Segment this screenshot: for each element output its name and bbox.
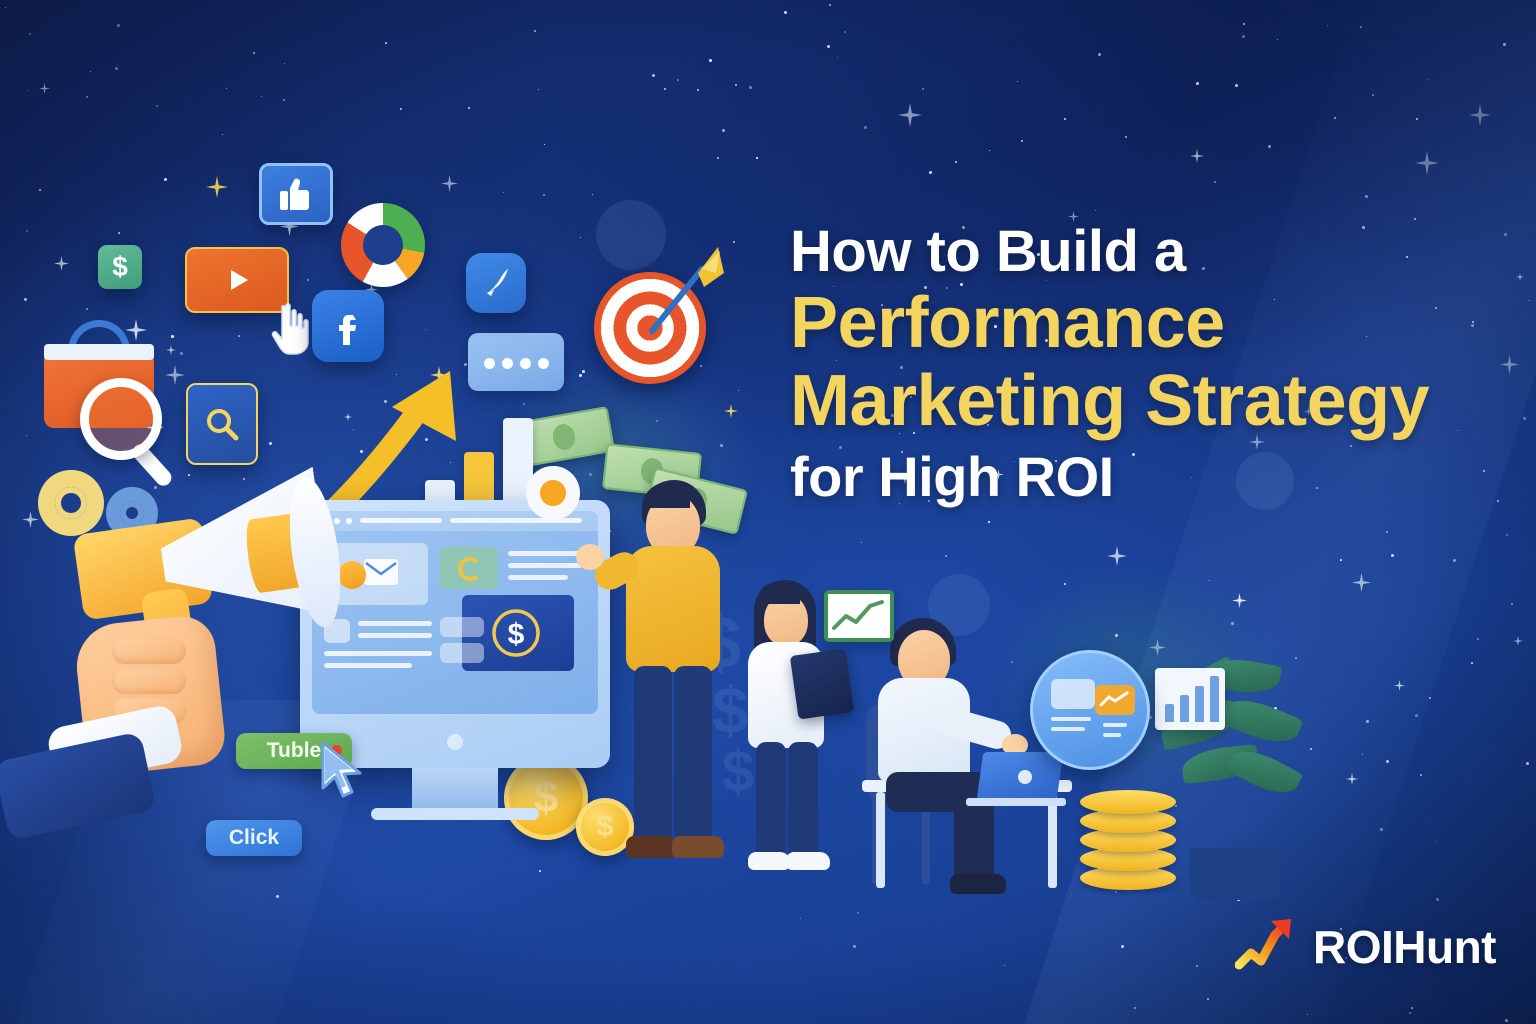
star-dot <box>27 90 28 91</box>
star-sparkle <box>898 103 922 127</box>
star-dot <box>945 555 947 557</box>
mini-bar-2 <box>1180 695 1189 722</box>
star-dot <box>929 171 932 174</box>
star-dot <box>1427 79 1428 80</box>
hair-front <box>642 482 690 508</box>
shoe-right <box>672 836 724 858</box>
chat-bubble-icon <box>468 333 564 391</box>
star-dot <box>1420 774 1422 776</box>
star-dot <box>1436 898 1439 901</box>
magnifier-ring <box>80 378 162 460</box>
star-dot <box>1503 43 1506 46</box>
star-dot <box>861 542 862 543</box>
logo[interactable]: ROIHunt <box>1235 917 1496 976</box>
star-dot <box>1523 417 1526 420</box>
magcircle-trend-icon <box>1099 691 1131 709</box>
star-dot <box>717 157 719 159</box>
star-dot <box>652 74 655 77</box>
bubble-dot-2 <box>502 358 513 369</box>
shoe-right <box>786 852 830 870</box>
star-dot <box>180 352 183 355</box>
star-dot <box>837 57 838 58</box>
leg-right <box>788 742 818 858</box>
topbar-line-1 <box>450 518 582 523</box>
star-sparkle <box>1394 680 1405 691</box>
star-sparkle <box>1516 273 1524 281</box>
star-dot <box>86 308 88 310</box>
chip-click[interactable]: Click <box>206 820 302 856</box>
headline-line-2: Performance <box>790 287 1510 360</box>
bubble-dot-3 <box>520 358 531 369</box>
shoe <box>950 874 1006 894</box>
star-dot <box>1453 559 1456 562</box>
star-dot <box>90 71 91 72</box>
arrow-icon <box>640 243 730 343</box>
thumbs-up-icon[interactable] <box>259 163 333 225</box>
hair-front <box>756 582 800 604</box>
dash-line-5 <box>358 633 432 638</box>
star-sparkle <box>39 83 50 94</box>
star-dot <box>1366 720 1369 723</box>
stack-coin-5 <box>1080 790 1176 814</box>
mini-bar-1 <box>1165 704 1174 722</box>
star-sparkle <box>166 345 176 355</box>
star-dot <box>222 134 223 135</box>
star-dot <box>592 194 593 195</box>
megaphone-rim <box>282 474 349 631</box>
star-dot <box>1362 754 1363 755</box>
star-dot <box>538 89 539 90</box>
search-icon[interactable] <box>186 383 258 465</box>
monitor-stand <box>412 768 498 812</box>
star-dot <box>1436 841 1437 842</box>
star-dot <box>989 150 990 151</box>
star-dot <box>1511 603 1513 605</box>
star-dot <box>171 335 174 338</box>
star-dot <box>1197 1006 1198 1007</box>
star-dot <box>1307 1014 1308 1015</box>
star-sparkle <box>1352 573 1371 592</box>
star-dot <box>26 435 27 436</box>
star-dot <box>1064 118 1066 120</box>
star-dot <box>1235 84 1238 87</box>
star-dot <box>1471 662 1473 664</box>
dollar-badge-icon[interactable]: $ <box>98 245 142 289</box>
tablet[interactable] <box>790 648 854 719</box>
star-dot <box>284 63 285 64</box>
star-dot <box>24 298 27 301</box>
chip-tuble-label: Tuble <box>267 739 321 763</box>
star-dot <box>118 232 120 234</box>
star-dot <box>1277 39 1278 40</box>
star-dot <box>1327 25 1328 26</box>
bubble-dot-4 <box>538 358 549 369</box>
star-dot <box>1386 760 1389 763</box>
headline: How to Build a Performance Marketing Str… <box>790 222 1510 505</box>
star-dot <box>1415 714 1418 717</box>
bubble-dot-1 <box>484 358 495 369</box>
dash-line-3 <box>508 575 568 580</box>
star-dot <box>677 79 679 81</box>
star-dot <box>1505 1019 1508 1022</box>
magcircle-line-2 <box>1051 727 1085 731</box>
star-sparkle <box>1190 149 1204 163</box>
suit-sleeve <box>0 731 157 840</box>
shoe-left <box>748 852 790 870</box>
leg-left <box>634 666 672 842</box>
star-dot <box>1098 53 1101 56</box>
star-dot <box>86 96 88 98</box>
headline-line-3: Marketing Strategy <box>790 365 1510 438</box>
mini-bar-4 <box>1210 676 1219 722</box>
star-dot <box>269 442 272 445</box>
star-dot <box>735 84 737 86</box>
star-dot <box>539 870 541 872</box>
star-dot <box>1380 828 1383 831</box>
star-dot <box>1414 218 1416 220</box>
star-dot <box>1021 140 1023 142</box>
star-dot <box>1340 559 1342 561</box>
donut-chart-icon <box>341 203 425 287</box>
facebook-icon[interactable] <box>312 290 384 362</box>
mini-bar-3 <box>1195 686 1204 722</box>
star-dot <box>253 52 255 54</box>
leg-left <box>756 742 786 858</box>
star-dot <box>853 945 856 948</box>
star-dot <box>1004 965 1005 966</box>
leg-right <box>674 666 712 842</box>
star-dot <box>1365 195 1368 198</box>
star-dot <box>156 105 158 107</box>
star-dot <box>425 329 426 330</box>
person-yellow-sweater <box>612 480 732 880</box>
star-dot <box>1429 697 1431 699</box>
star-dot <box>238 335 240 337</box>
star-dot <box>756 157 758 159</box>
dashboard-tile-1 <box>440 617 484 637</box>
line-chart-icon <box>824 590 894 642</box>
star-dot <box>922 88 924 90</box>
star-dot <box>543 194 545 196</box>
magnifier-icon <box>80 378 188 486</box>
star-dot <box>468 107 470 109</box>
star-dot <box>5 7 6 8</box>
cursor-arrow-icon <box>318 740 368 802</box>
star-dot <box>733 241 735 243</box>
star-dot <box>1506 534 1508 536</box>
star-dot <box>1121 945 1124 948</box>
star-dot <box>1409 1012 1411 1014</box>
star-dot <box>283 99 285 101</box>
star-dot <box>1416 118 1418 120</box>
star-dot <box>1334 117 1336 119</box>
cursor-hand-icon <box>270 300 316 358</box>
star-dot <box>1214 181 1216 183</box>
coin-small-symbol: $ <box>597 810 614 844</box>
dash-line-2 <box>508 563 582 568</box>
torso <box>626 546 720 672</box>
star-dot <box>385 42 387 44</box>
star-dot <box>1242 35 1245 38</box>
dash-line-1 <box>508 551 582 556</box>
star-sparkle-gold <box>206 176 228 198</box>
star-dot <box>1243 23 1245 25</box>
star-dot <box>1372 94 1374 96</box>
magcircle-card-1 <box>1051 679 1095 709</box>
star-dot <box>1196 965 1198 967</box>
star-dot <box>39 189 41 191</box>
magnified-dashboard-icon <box>1030 650 1150 770</box>
shoe-left <box>626 836 676 858</box>
star-dot <box>722 129 725 132</box>
bar-chart-panel <box>1155 668 1225 730</box>
megaphone-in-hand <box>60 470 360 700</box>
star-dot <box>1529 300 1530 301</box>
shin <box>954 800 994 882</box>
envelope-icon <box>364 559 398 585</box>
magcircle-line-1 <box>1051 717 1091 721</box>
star-dot <box>164 178 167 181</box>
star-dot <box>709 59 712 62</box>
star-dot <box>784 11 787 14</box>
laptop-base <box>966 798 1066 806</box>
star-dot <box>1207 998 1209 1000</box>
abstract-app-icon[interactable] <box>466 253 526 313</box>
dash-line-4 <box>358 621 432 626</box>
plant-pot <box>1190 848 1280 900</box>
logo-text: ROIHunt <box>1313 920 1496 974</box>
star-dot <box>664 88 666 90</box>
star-dot <box>115 67 118 70</box>
bag-top <box>44 344 154 360</box>
star-dot <box>1391 554 1394 557</box>
star-dot <box>827 45 830 48</box>
star-dot <box>400 108 402 110</box>
star-dot <box>1411 1007 1413 1009</box>
star-dot <box>261 96 262 97</box>
star-dot <box>1095 210 1096 211</box>
star-sparkle <box>1415 151 1439 175</box>
star-dot <box>697 89 699 91</box>
dollar-badge-label: $ <box>112 251 128 283</box>
hand-left <box>576 544 604 570</box>
star-dot <box>955 161 957 163</box>
coin-stack <box>1080 780 1180 890</box>
star-dot <box>29 33 31 35</box>
chip-click-label: Click <box>229 826 279 850</box>
star-dot <box>844 31 846 33</box>
headline-line-4: for High ROI <box>790 448 1510 505</box>
star-dot <box>1386 531 1388 533</box>
finger-2 <box>112 668 186 694</box>
star-dot <box>800 918 801 919</box>
star-dot <box>544 144 545 145</box>
star-dot <box>1017 81 1018 82</box>
star-dot <box>988 521 990 523</box>
star-dot <box>829 4 831 6</box>
laptop[interactable] <box>966 752 1062 804</box>
star-dot <box>864 126 867 129</box>
marketing-banner: $ $ $ $ <box>0 0 1536 1024</box>
logo-growth-arrow-icon <box>1235 917 1297 976</box>
url-bar <box>360 518 442 523</box>
star-dot <box>580 237 581 238</box>
star-dot <box>534 30 536 32</box>
star-sparkle <box>22 511 39 528</box>
monitor-base <box>371 808 539 820</box>
magcircle-line-4 <box>1103 733 1121 737</box>
star-dot <box>226 88 227 89</box>
star-dot <box>857 912 859 914</box>
star-dot <box>1310 748 1312 750</box>
finger-1 <box>112 638 186 664</box>
headline-line-1: How to Build a <box>790 222 1510 281</box>
magcircle-line-3 <box>1103 723 1127 727</box>
svg-text:$: $ <box>508 618 525 651</box>
gear-icon-white <box>526 466 580 520</box>
star-sparkle <box>1469 104 1491 126</box>
star-dot <box>1360 26 1362 28</box>
refresh-icon <box>458 557 482 581</box>
star-dot <box>307 279 309 281</box>
monitor-power-dot <box>447 734 463 750</box>
laptop-logo <box>1018 770 1032 784</box>
star-dot <box>749 86 752 89</box>
star-dot <box>1477 638 1479 640</box>
star-dot <box>1134 1007 1136 1009</box>
star-dot <box>117 24 120 27</box>
dollar-circle-icon: $ <box>490 607 542 659</box>
star-dot <box>503 192 504 193</box>
star-dot <box>1196 82 1199 85</box>
star-sparkle <box>441 175 458 192</box>
star-dot <box>1268 145 1271 148</box>
star-dot <box>1526 762 1529 765</box>
star-sparkle <box>54 256 69 271</box>
star-dot <box>1071 894 1072 895</box>
star-dot <box>26 230 28 232</box>
star-dot <box>1115 891 1117 893</box>
star-dot <box>276 895 279 898</box>
dashboard-tile-2 <box>440 643 484 663</box>
star-sparkle <box>1346 773 1358 785</box>
star-dot <box>1125 136 1127 138</box>
star-sparkle <box>1513 636 1523 646</box>
